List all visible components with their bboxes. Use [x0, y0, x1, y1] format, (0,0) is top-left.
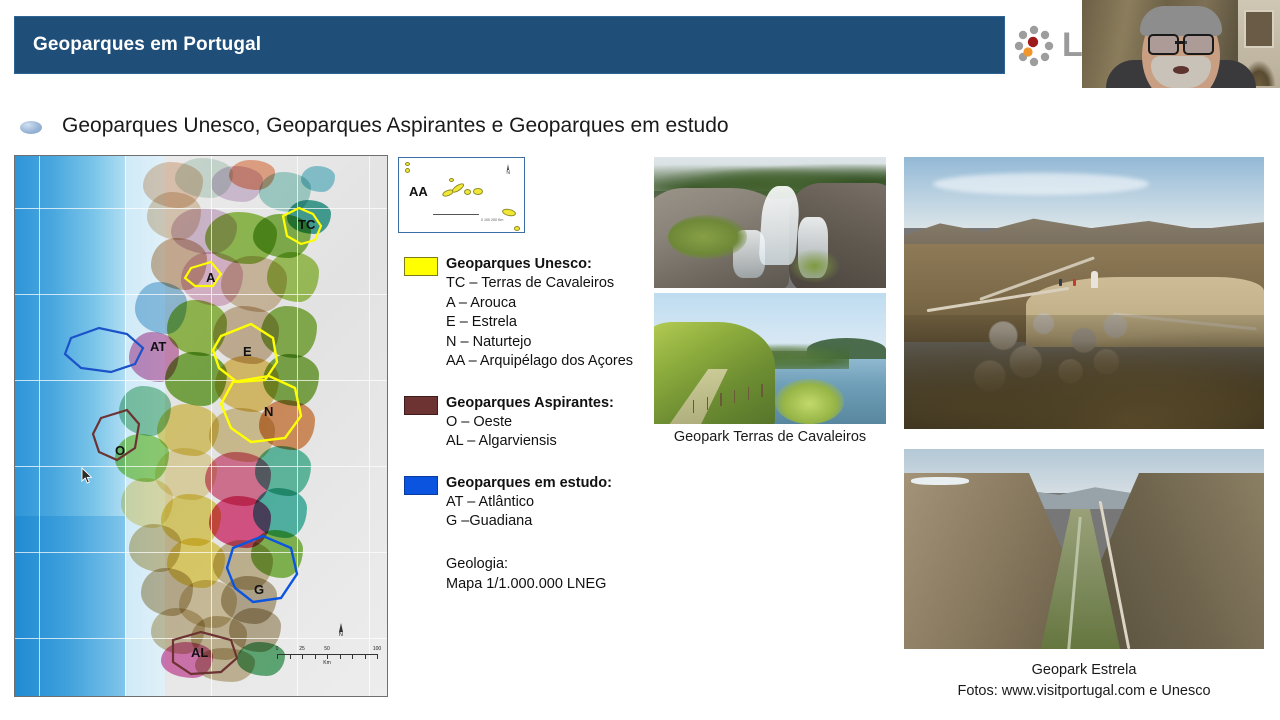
slide-title-bar: Geoparques em Portugal	[14, 16, 1005, 74]
map-label-a: A	[206, 270, 215, 285]
inset-north-arrow-icon: N	[506, 164, 510, 176]
webcam-hair	[1140, 6, 1222, 36]
legend-item: AT – Atlântico	[446, 493, 656, 513]
map-label-e: E	[243, 344, 252, 359]
legend-group-estudo: Geoparques em estudo: AT – Atlântico G –…	[446, 474, 656, 532]
photo-lakeside-path	[654, 293, 886, 424]
webcam-picture-frame	[1244, 10, 1274, 48]
slide-subtitle: Geoparques Unesco, Geoparques Aspirantes…	[62, 114, 729, 138]
caption-credits: Fotos: www.visitportugal.com e Unesco	[904, 683, 1264, 699]
scale-num-25: 25	[299, 646, 305, 652]
map-label-tc: TC	[298, 217, 315, 232]
map-north-arrow-icon: N	[339, 623, 343, 638]
legend-source: Geologia: Mapa 1/1.000.000 LNEG	[446, 554, 656, 594]
bullet-disc-icon	[20, 121, 42, 134]
map-label-o: O	[115, 443, 125, 458]
map-label-al: AL	[191, 645, 208, 660]
portugal-geology-map[interactable]: TC A E N AT O G AL 10°W 9°W 8°W 7°W 6°W …	[14, 155, 388, 697]
photo-estrela-summit	[904, 157, 1264, 429]
legend-item: G –Guadiana	[446, 512, 656, 532]
legend-item: AL – Algarviensis	[446, 432, 656, 452]
legend-heading-unesco: Geoparques Unesco:	[446, 255, 656, 274]
webcam-mouth	[1173, 66, 1189, 74]
caption-photo-left: Geopark Terras de Cavaleiros	[654, 429, 886, 445]
inset-label-aa: AA	[409, 184, 428, 199]
inset-scale-bar	[433, 214, 479, 218]
scale-unit-label: Km	[277, 660, 377, 666]
legend-item: N – Naturtejo	[446, 333, 656, 353]
legend-swatch-aspirantes	[404, 396, 438, 415]
legend-source-line2: Mapa 1/1.000.000 LNEG	[446, 574, 656, 594]
map-label-at: AT	[150, 339, 166, 354]
legend-item: O – Oeste	[446, 413, 656, 433]
webcam-glasses	[1148, 34, 1214, 51]
map-legend: Geoparques Unesco: TC – Terras de Cavale…	[446, 255, 656, 594]
legend-swatch-estudo	[404, 476, 438, 495]
logo-dots-icon	[1012, 24, 1056, 68]
caption-photo-right: Geopark Estrela	[904, 662, 1264, 678]
legend-heading-aspirantes: Geoparques Aspirantes:	[446, 394, 656, 413]
legend-item: AA – Arquipélago dos Açores	[446, 352, 656, 372]
legend-group-unesco: Geoparques Unesco: TC – Terras de Cavale…	[446, 255, 656, 372]
map-label-g: G	[254, 582, 264, 597]
geopark-outlines	[15, 156, 387, 696]
page-title: Geoparques em Portugal	[33, 34, 261, 56]
azores-inset-map[interactable]: AA N 0 100 200 Km	[398, 157, 525, 233]
slide: Geoparques em Portugal LN	[0, 0, 1280, 720]
map-scale-bar: 0 25 50 100 Km	[277, 646, 377, 666]
legend-heading-estudo: Geoparques em estudo:	[446, 474, 656, 493]
legend-item: E – Estrela	[446, 313, 656, 333]
legend-group-aspirantes: Geoparques Aspirantes: O – Oeste AL – Al…	[446, 394, 656, 452]
legend-item: TC – Terras de Cavaleiros	[446, 274, 656, 294]
legend-swatch-unesco	[404, 257, 438, 276]
legend-item: A – Arouca	[446, 294, 656, 314]
scale-num-100: 100	[373, 646, 381, 652]
inset-scale-note: 0 100 200 Km	[481, 218, 503, 222]
webcam-overlay[interactable]	[1082, 0, 1280, 88]
north-label: N	[339, 632, 343, 638]
photo-glacial-valley	[904, 449, 1264, 649]
scale-num-50: 50	[324, 646, 330, 652]
scale-num-0: 0	[276, 646, 279, 652]
map-label-n: N	[264, 404, 273, 419]
legend-source-line1: Geologia:	[446, 554, 656, 574]
photo-waterfall	[654, 157, 886, 288]
mouse-cursor	[81, 467, 93, 484]
inset-north-label: N	[506, 170, 510, 176]
